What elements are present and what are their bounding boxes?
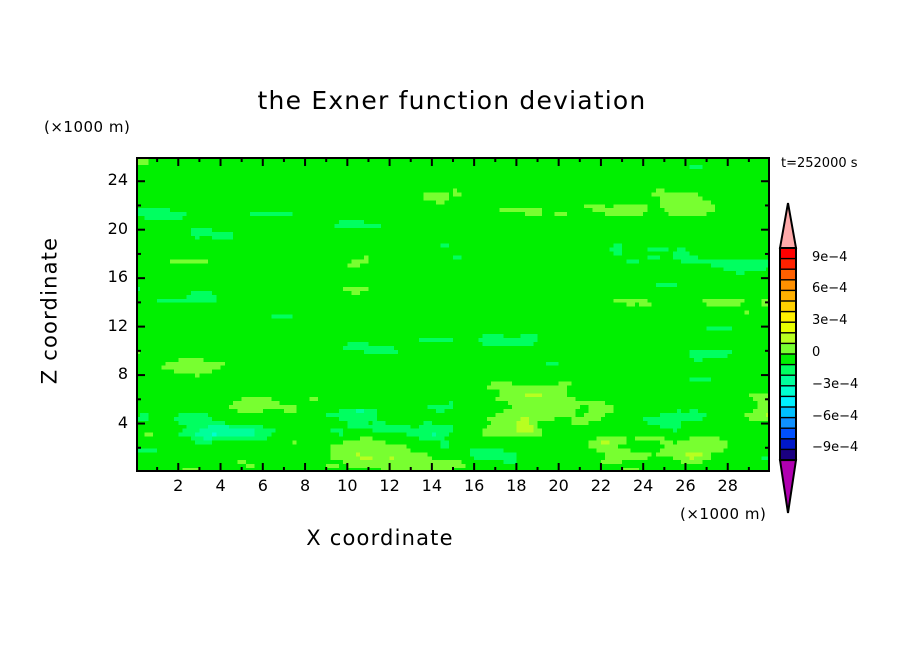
y-tick-label: 24 — [88, 172, 128, 188]
colorbar-band — [780, 280, 796, 291]
colorbar-band — [780, 322, 796, 333]
x-tick-label: 12 — [370, 478, 410, 494]
y-tick-label: 4 — [88, 415, 128, 431]
time-annotation: t=252000 s — [781, 157, 858, 170]
colorbar — [770, 198, 830, 518]
colorbar-band — [780, 439, 796, 450]
x-tick-label: 18 — [496, 478, 536, 494]
x-tick-label: 14 — [412, 478, 452, 494]
colorbar-band — [780, 269, 796, 280]
colorbar-band — [780, 333, 796, 344]
y-tick-label: 12 — [88, 318, 128, 334]
colorbar-band — [780, 428, 796, 439]
x-tick-label: 22 — [581, 478, 621, 494]
x-axis-title: X coordinate — [0, 528, 760, 549]
colorbar-tick-label: 9e−4 — [812, 251, 847, 264]
colorbar-band — [780, 259, 796, 270]
colorbar-tick-label: 3e−4 — [812, 314, 847, 327]
x-tick-label: 28 — [708, 478, 748, 494]
x-tick-label: 10 — [327, 478, 367, 494]
y-tick-label: 8 — [88, 366, 128, 382]
x-axis-unit-label: (×1000 m) — [680, 507, 766, 522]
x-tick-label: 26 — [665, 478, 705, 494]
colorbar-band — [780, 312, 796, 323]
x-tick-label: 20 — [539, 478, 579, 494]
colorbar-band — [780, 375, 796, 386]
colorbar-band — [780, 418, 796, 429]
colorbar-band — [780, 248, 796, 259]
chart-title: the Exner function deviation — [0, 88, 904, 113]
x-tick-label: 16 — [454, 478, 494, 494]
chart-canvas: the Exner function deviation (×1000 m) (… — [0, 0, 904, 654]
colorbar-band — [780, 396, 796, 407]
colorbar-band — [780, 290, 796, 301]
colorbar-tick-label: −6e−4 — [812, 410, 858, 423]
colorbar-band — [780, 354, 796, 365]
colorbar-band — [780, 343, 796, 354]
y-axis-title: Z coordinate — [40, 201, 61, 421]
colorbar-band — [780, 301, 796, 312]
colorbar-band — [780, 365, 796, 376]
colorbar-band — [780, 386, 796, 397]
y-tick-label: 16 — [88, 269, 128, 285]
colorbar-tick-label: 6e−4 — [812, 282, 847, 295]
colorbar-tick-label: −3e−4 — [812, 378, 858, 391]
x-tick-label: 6 — [243, 478, 283, 494]
colorbar-tick-label: −9e−4 — [812, 441, 858, 454]
x-tick-label: 2 — [158, 478, 198, 494]
x-tick-label: 24 — [623, 478, 663, 494]
colorbar-tick-label: 0 — [812, 346, 820, 359]
colorbar-band — [780, 407, 796, 418]
x-tick-label: 4 — [201, 478, 241, 494]
y-axis-unit-label: (×1000 m) — [44, 120, 130, 135]
colorbar-band — [780, 449, 796, 460]
colorbar-under-arrow — [780, 460, 796, 513]
x-tick-label: 8 — [285, 478, 325, 494]
y-tick-label: 20 — [88, 221, 128, 237]
axis-ticks — [136, 157, 770, 472]
colorbar-over-arrow — [780, 203, 796, 248]
